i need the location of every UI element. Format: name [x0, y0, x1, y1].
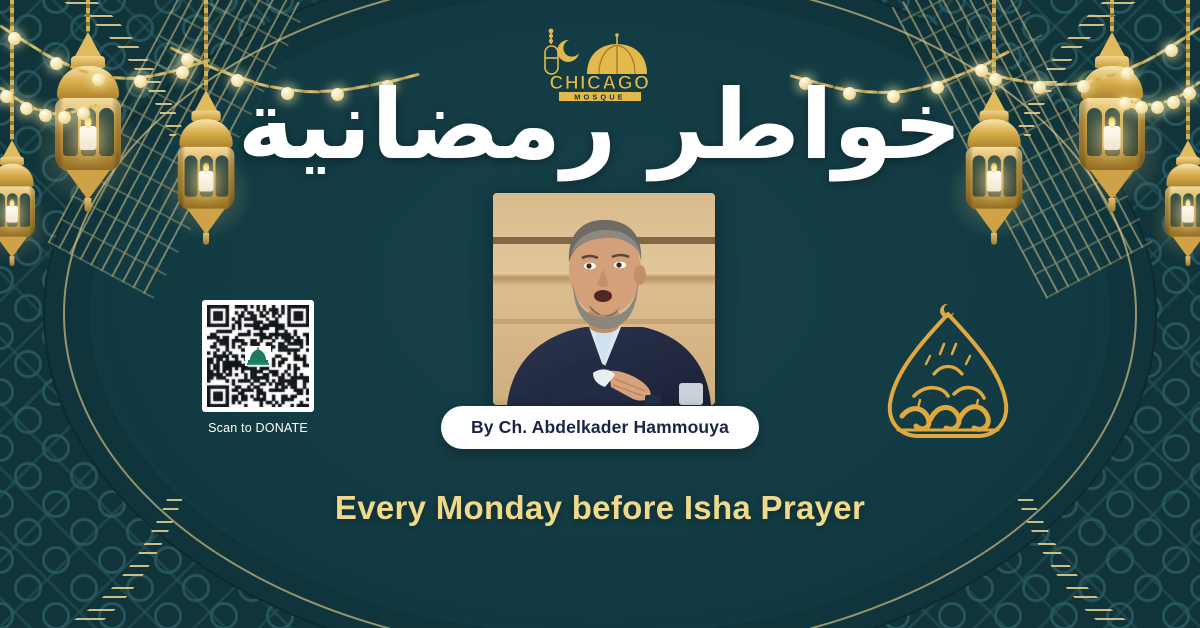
- poster-title-arabic: خواطر رمضانية: [0, 74, 1200, 178]
- speaker-portrait: [493, 193, 715, 405]
- qr-caption: Scan to DONATE: [196, 421, 320, 435]
- poster-content: CHICAGO MOSQUE خواطر رمضانية: [0, 0, 1200, 628]
- qr-center-logo: [245, 346, 271, 366]
- mosque-dome-icon: [246, 347, 270, 365]
- donate-qr-block[interactable]: Scan to DONATE: [196, 300, 320, 435]
- speaker-name-badge: By Ch. Abdelkader Hammouya: [441, 406, 759, 449]
- ramadan-event-poster: CHICAGO MOSQUE خواطر رمضانية: [0, 0, 1200, 628]
- ramadan-kareem-calligraphy: [868, 300, 1028, 450]
- schedule-text: Every Monday before Isha Prayer: [0, 489, 1200, 527]
- qr-code[interactable]: [202, 300, 314, 412]
